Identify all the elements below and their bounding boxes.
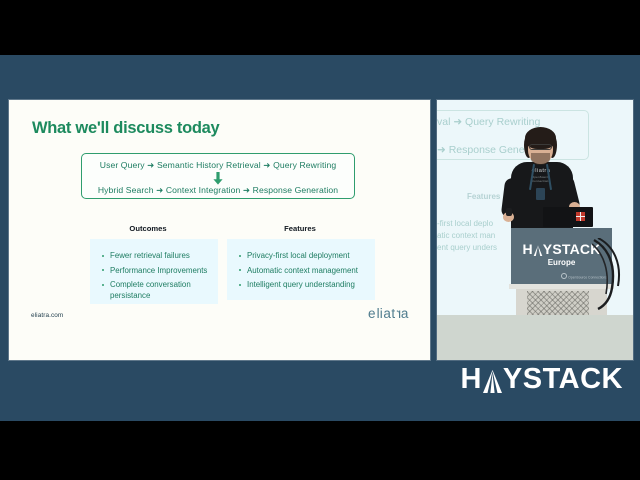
letterbox-top (0, 0, 640, 55)
eliatra-logo-a: a (401, 306, 409, 321)
presentation-slide-panel: What we'll discuss today User Query ➜ Se… (9, 100, 430, 360)
presenter-clicker (506, 208, 512, 216)
video-frame: What we'll discuss today User Query ➜ Se… (0, 55, 640, 421)
haystack-wordmark-h: H (460, 363, 481, 395)
slide-title: What we'll discuss today (32, 119, 219, 138)
letterbox-bottom (0, 421, 640, 480)
speaker-camera-panel: val ➜ Query Rewriting ➜ Response Generat… (437, 100, 633, 360)
outcomes-heading: Outcomes (85, 224, 211, 233)
list-item: Performance Improvements (101, 265, 212, 276)
laptop (543, 207, 593, 229)
projected-bullets: -first local deplo atic context man ent … (437, 218, 497, 254)
badge (536, 188, 545, 200)
glasses-icon (529, 144, 552, 150)
podium-mesh-panel (527, 291, 589, 315)
outcomes-list: Fewer retrieval failures Performance Imp… (101, 250, 212, 305)
eliatra-logo-l: l (376, 306, 380, 321)
features-heading: Features (227, 224, 373, 233)
video-player-stage: What we'll discuss today User Query ➜ Se… (0, 0, 640, 480)
features-box: Privacy-first local deployment Automatic… (227, 239, 375, 300)
slide-footer-url: eliatra.com (31, 312, 63, 319)
flow-row-top: User Query ➜ Semantic History Retrieval … (82, 160, 354, 171)
list-item: Privacy-first local deployment (238, 250, 369, 261)
list-item: Intelligent query understanding (238, 279, 369, 290)
projected-features-heading: Features (467, 192, 500, 201)
outcomes-box: Fewer retrieval failures Performance Imp… (90, 239, 218, 304)
haystack-wordmark-rest: YSTACK (503, 363, 623, 395)
eliatra-logo: eliatra (368, 306, 409, 321)
flow-row-bottom: Hybrid Search ➜ Context Integration ➜ Re… (82, 185, 354, 196)
stage-cables (592, 238, 626, 310)
eliatra-logo-iat: iat (380, 306, 396, 321)
eliatra-logo-e: e (368, 306, 376, 321)
podium-brand-h: H (522, 241, 532, 257)
list-item: Fewer retrieval failures (101, 250, 212, 261)
features-list: Privacy-first local deployment Automatic… (238, 250, 369, 294)
eliatra-logo-r: r (396, 306, 401, 321)
osc-mark-icon (561, 273, 567, 279)
laptop-sticker (576, 212, 585, 221)
arrow-down-icon (82, 172, 354, 185)
list-item: Complete conversation persistance (101, 279, 212, 301)
pipeline-flow-box: User Query ➜ Semantic History Retrieval … (81, 153, 355, 199)
laptop-screen (543, 207, 593, 227)
stage-floor (437, 315, 633, 360)
list-item: Automatic context management (238, 265, 369, 276)
speaker-beard (531, 153, 550, 165)
haystack-wordmark: H YSTACK (460, 365, 623, 394)
